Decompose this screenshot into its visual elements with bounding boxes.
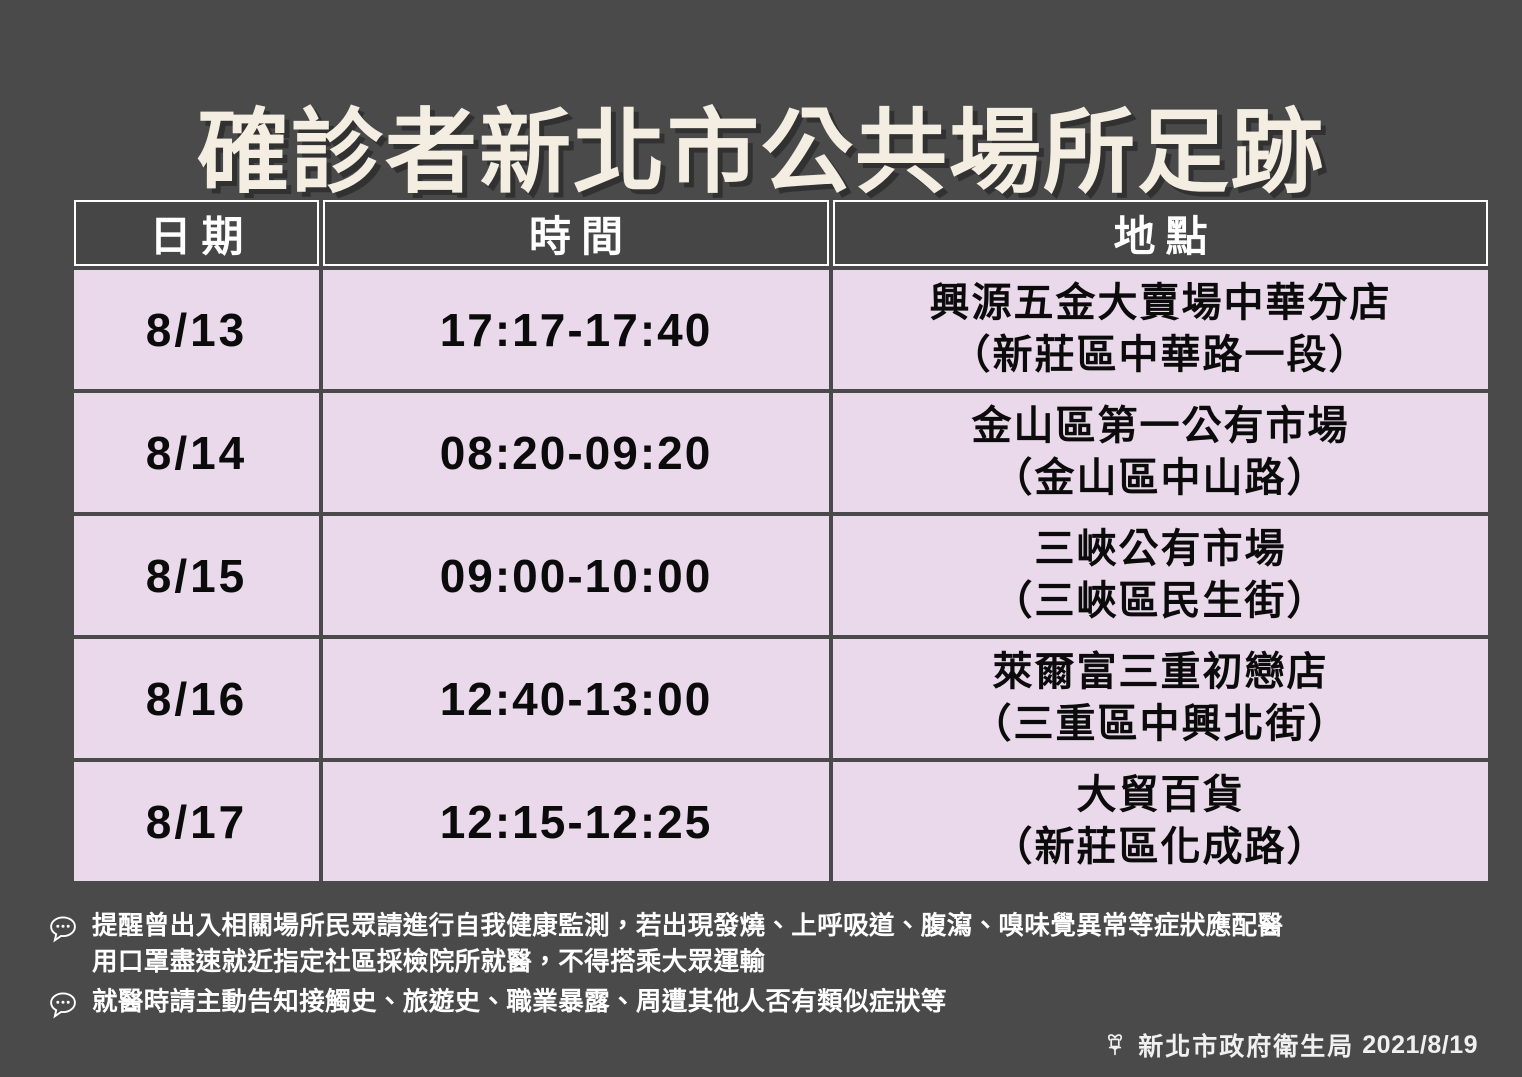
table-row: 8/15 09:00-10:00 三峽公有市場 （三峽區民生街） bbox=[74, 516, 1488, 635]
location-name: 大貿百貨 bbox=[839, 770, 1482, 821]
cell-location: 三峽公有市場 （三峽區民生街） bbox=[833, 516, 1488, 635]
speech-bubble-icon bbox=[48, 990, 78, 1020]
cell-date: 8/16 bbox=[74, 639, 319, 758]
note-line-1: 提醒曾出入相關場所民眾請進行自我健康監測，若出現發燒、上呼吸道、腹瀉、嗅味覺異常… bbox=[92, 912, 1283, 940]
cell-date: 8/13 bbox=[74, 270, 319, 389]
cell-time: 12:40-13:00 bbox=[323, 639, 829, 758]
cell-time: 08:20-09:20 bbox=[323, 393, 829, 512]
note-item: 就醫時請主動告知接觸史、旅遊史、職業暴露、周遭其他人否有類似症狀等 bbox=[48, 984, 1488, 1020]
cell-time: 17:17-17:40 bbox=[323, 270, 829, 389]
location-address: （新莊區化成路） bbox=[839, 822, 1482, 873]
location-address: （三重區中興北街） bbox=[839, 699, 1482, 750]
credit-organization: 新北市政府衛生局 bbox=[1138, 1027, 1354, 1063]
new-taipei-gov-logo-icon bbox=[1100, 1030, 1130, 1060]
cell-location: 大貿百貨 （新莊區化成路） bbox=[833, 762, 1488, 881]
location-name: 三峽公有市場 bbox=[839, 524, 1482, 575]
note-text: 就醫時請主動告知接觸史、旅遊史、職業暴露、周遭其他人否有類似症狀等 bbox=[92, 984, 947, 1020]
poster-root: 確診者新北市公共場所足跡 日期 時間 地點 8/13 17:17-17:40 bbox=[0, 0, 1522, 1077]
credit-date: 2021/8/19 bbox=[1362, 1031, 1478, 1060]
trace-table-container: 日期 時間 地點 8/13 17:17-17:40 興源五金大賣場中華分店 （新… bbox=[70, 196, 1476, 885]
location-address: （新莊區中華路一段） bbox=[839, 330, 1482, 381]
cell-location: 金山區第一公有市場 （金山區中山路） bbox=[833, 393, 1488, 512]
table-row: 8/13 17:17-17:40 興源五金大賣場中華分店 （新莊區中華路一段） bbox=[74, 270, 1488, 389]
table-header-row: 日期 時間 地點 bbox=[74, 200, 1488, 266]
note-line-2: 用口罩盡速就近指定社區採檢院所就醫，不得搭乘大眾運輸 bbox=[92, 944, 1283, 980]
page-title: 確診者新北市公共場所足跡 bbox=[197, 104, 1325, 203]
location-name: 興源五金大賣場中華分店 bbox=[839, 278, 1482, 329]
credit-line: 新北市政府衛生局 2021/8/19 bbox=[1100, 1027, 1478, 1063]
table-body: 8/13 17:17-17:40 興源五金大賣場中華分店 （新莊區中華路一段） … bbox=[74, 270, 1488, 881]
location-name: 萊爾富三重初戀店 bbox=[839, 647, 1482, 698]
location-address: （金山區中山路） bbox=[839, 453, 1482, 504]
column-header-date: 日期 bbox=[74, 200, 319, 266]
note-item: 提醒曾出入相關場所民眾請進行自我健康監測，若出現發燒、上呼吸道、腹瀉、嗅味覺異常… bbox=[48, 908, 1488, 980]
cell-date: 8/17 bbox=[74, 762, 319, 881]
table-header: 日期 時間 地點 bbox=[74, 200, 1488, 266]
table-row: 8/16 12:40-13:00 萊爾富三重初戀店 （三重區中興北街） bbox=[74, 639, 1488, 758]
table-row: 8/14 08:20-09:20 金山區第一公有市場 （金山區中山路） bbox=[74, 393, 1488, 512]
note-line-1: 就醫時請主動告知接觸史、旅遊史、職業暴露、周遭其他人否有類似症狀等 bbox=[92, 988, 947, 1016]
cell-date: 8/14 bbox=[74, 393, 319, 512]
column-header-location: 地點 bbox=[833, 200, 1488, 266]
cell-location: 興源五金大賣場中華分店 （新莊區中華路一段） bbox=[833, 270, 1488, 389]
footer-notes: 提醒曾出入相關場所民眾請進行自我健康監測，若出現發燒、上呼吸道、腹瀉、嗅味覺異常… bbox=[48, 908, 1488, 1025]
column-header-time: 時間 bbox=[323, 200, 829, 266]
cell-time: 09:00-10:00 bbox=[323, 516, 829, 635]
location-name: 金山區第一公有市場 bbox=[839, 401, 1482, 452]
trace-table: 日期 時間 地點 8/13 17:17-17:40 興源五金大賣場中華分店 （新… bbox=[70, 196, 1492, 885]
table-row: 8/17 12:15-12:25 大貿百貨 （新莊區化成路） bbox=[74, 762, 1488, 881]
note-text: 提醒曾出入相關場所民眾請進行自我健康監測，若出現發燒、上呼吸道、腹瀉、嗅味覺異常… bbox=[92, 908, 1283, 980]
cell-location: 萊爾富三重初戀店 （三重區中興北街） bbox=[833, 639, 1488, 758]
cell-time: 12:15-12:25 bbox=[323, 762, 829, 881]
location-address: （三峽區民生街） bbox=[839, 576, 1482, 627]
cell-date: 8/15 bbox=[74, 516, 319, 635]
speech-bubble-icon bbox=[48, 914, 78, 944]
